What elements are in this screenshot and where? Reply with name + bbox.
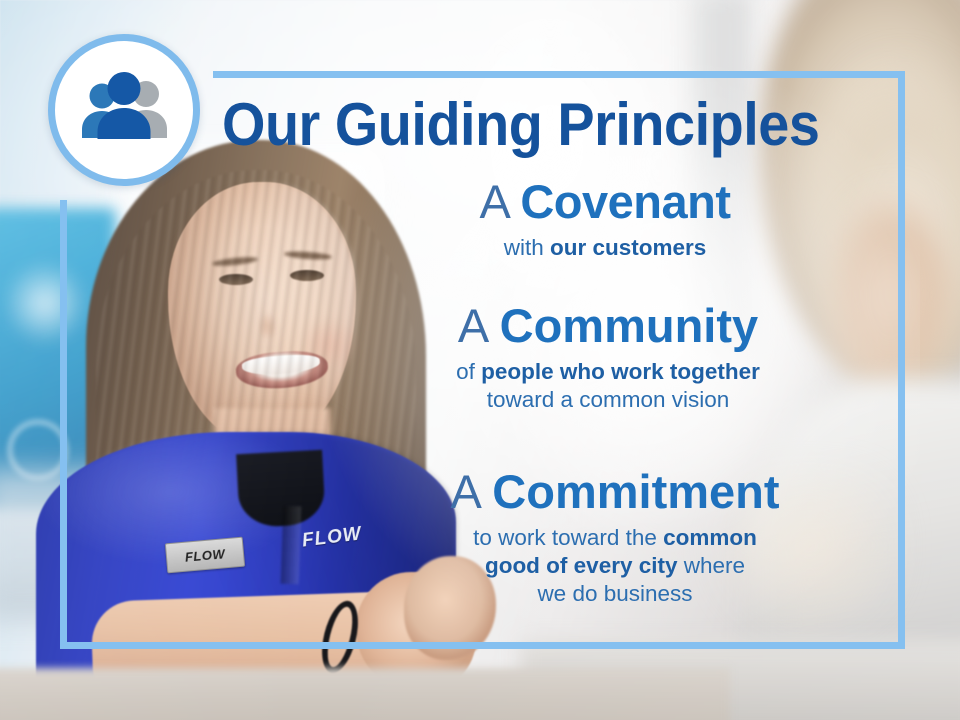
principle-community-article: A [458,299,500,352]
principle-community-body-regular: of [456,359,481,384]
principle-covenant-body-regular: with [504,235,550,260]
principle-commitment-title: A Commitment [330,466,900,519]
principle-community: A Community of people who work together … [330,300,886,414]
principle-community-body-line2: toward a common vision [487,387,730,412]
employee-name-badge-text: FLOW [184,547,225,563]
principle-covenant-keyword: Covenant [520,175,730,228]
principle-covenant-title: A Covenant [330,176,880,229]
principle-commitment-body-line2-bold: good of every city [485,553,678,578]
people-group-icon [76,72,172,148]
frame-border-left [60,200,67,649]
principle-community-body: of people who work together toward a com… [330,358,886,415]
employee-shirt-placket [281,506,302,585]
page-title: Our Guiding Principles [222,94,836,155]
background-display-vehicle [0,248,100,358]
principle-community-keyword: Community [500,299,759,352]
desk-surface [0,668,730,720]
frame-border-bottom [60,642,905,649]
guiding-principles-graphic: FLOW FLOW Our G [0,0,960,720]
principle-commitment-keyword: Commitment [492,465,779,518]
principle-commitment-body-line2-regular: where [678,553,746,578]
principle-covenant: A Covenant with our customers [330,176,880,262]
principle-commitment: A Commitment to work toward the common g… [330,466,900,609]
principle-covenant-body: with our customers [330,234,880,262]
principle-commitment-body-line1-bold: common [663,525,757,550]
principle-commitment-body-line1-regular: to work toward the [473,525,663,550]
principle-covenant-article: A [480,175,521,228]
people-group-badge [48,34,200,186]
principle-covenant-body-bold: our customers [550,235,706,260]
frame-border-top [213,71,905,78]
principle-commitment-body-line3: we do business [537,581,692,606]
principle-commitment-article: A [450,465,492,518]
principle-community-title: A Community [330,300,886,353]
principle-commitment-body: to work toward the common good of every … [330,524,900,609]
principle-community-body-bold: people who work together [481,359,760,384]
